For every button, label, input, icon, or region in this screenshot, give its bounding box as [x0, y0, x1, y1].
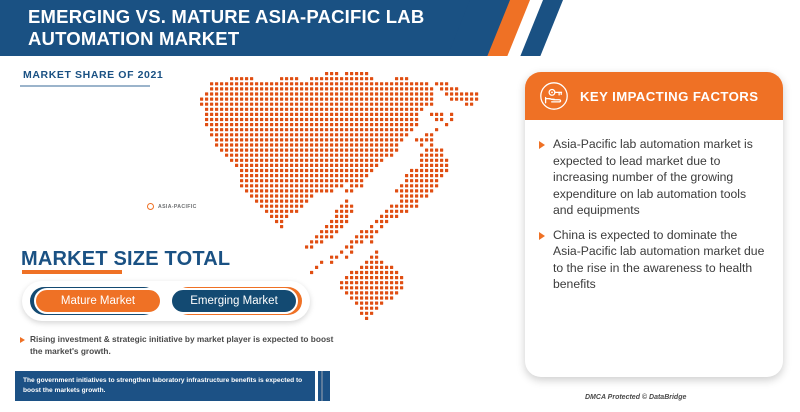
key-impacting-factors-panel: KEY IMPACTING FACTORS Asia-Pacific lab a… [525, 72, 783, 377]
key-factor-item: China is expected to dominate the Asia-P… [525, 221, 783, 295]
arrow-right-icon [539, 232, 545, 240]
asia-pacific-marker-label: ASIA-PACIFIC [158, 204, 197, 210]
infographic-root: EMERGING VS. MATURE ASIA-PACIFIC LAB AUT… [0, 0, 800, 412]
header-slant-blue-2 [520, 0, 563, 56]
mature-market-pill[interactable]: Mature Market [34, 288, 162, 314]
footer-strip-cap [318, 371, 330, 401]
market-segment-pill-group: Mature Market Emerging Market [22, 281, 310, 321]
footer-strip: The government initiatives to strengthen… [15, 371, 315, 401]
key-impacting-factors-title: KEY IMPACTING FACTORS [580, 89, 758, 104]
key-factor-text: Asia-Pacific lab automation market is ex… [553, 136, 767, 219]
footer-strip-text: The government initiatives to strengthen… [23, 376, 311, 395]
header-bar: EMERGING VS. MATURE ASIA-PACIFIC LAB AUT… [0, 0, 478, 56]
page-title: EMERGING VS. MATURE ASIA-PACIFIC LAB AUT… [28, 6, 468, 50]
market-share-label: MARKET SHARE OF 2021 [23, 69, 163, 81]
market-size-total-title: MARKET SIZE TOTAL [21, 248, 230, 271]
market-note: Rising investment & strategic initiative… [20, 334, 340, 357]
hand-holding-key-icon [538, 80, 570, 112]
arrow-right-icon [20, 337, 25, 343]
market-share-underline [20, 85, 150, 87]
emerging-market-pill[interactable]: Emerging Market [170, 288, 298, 314]
key-factor-text: China is expected to dominate the Asia-P… [553, 227, 767, 293]
circle-marker-icon [147, 203, 154, 210]
key-impacting-factors-header: KEY IMPACTING FACTORS [525, 72, 783, 120]
key-factor-item: Asia-Pacific lab automation market is ex… [525, 130, 783, 221]
footer-strip-cap-line [321, 371, 323, 401]
dmca-credit: DMCA Protected © DataBridge [585, 394, 686, 401]
key-impacting-factors-body: Asia-Pacific lab automation market is ex… [525, 120, 783, 295]
asia-pacific-marker: ASIA-PACIFIC [147, 203, 197, 210]
market-size-total-underline [22, 270, 122, 274]
market-note-text: Rising investment & strategic initiative… [30, 334, 340, 357]
arrow-right-icon [539, 141, 545, 149]
